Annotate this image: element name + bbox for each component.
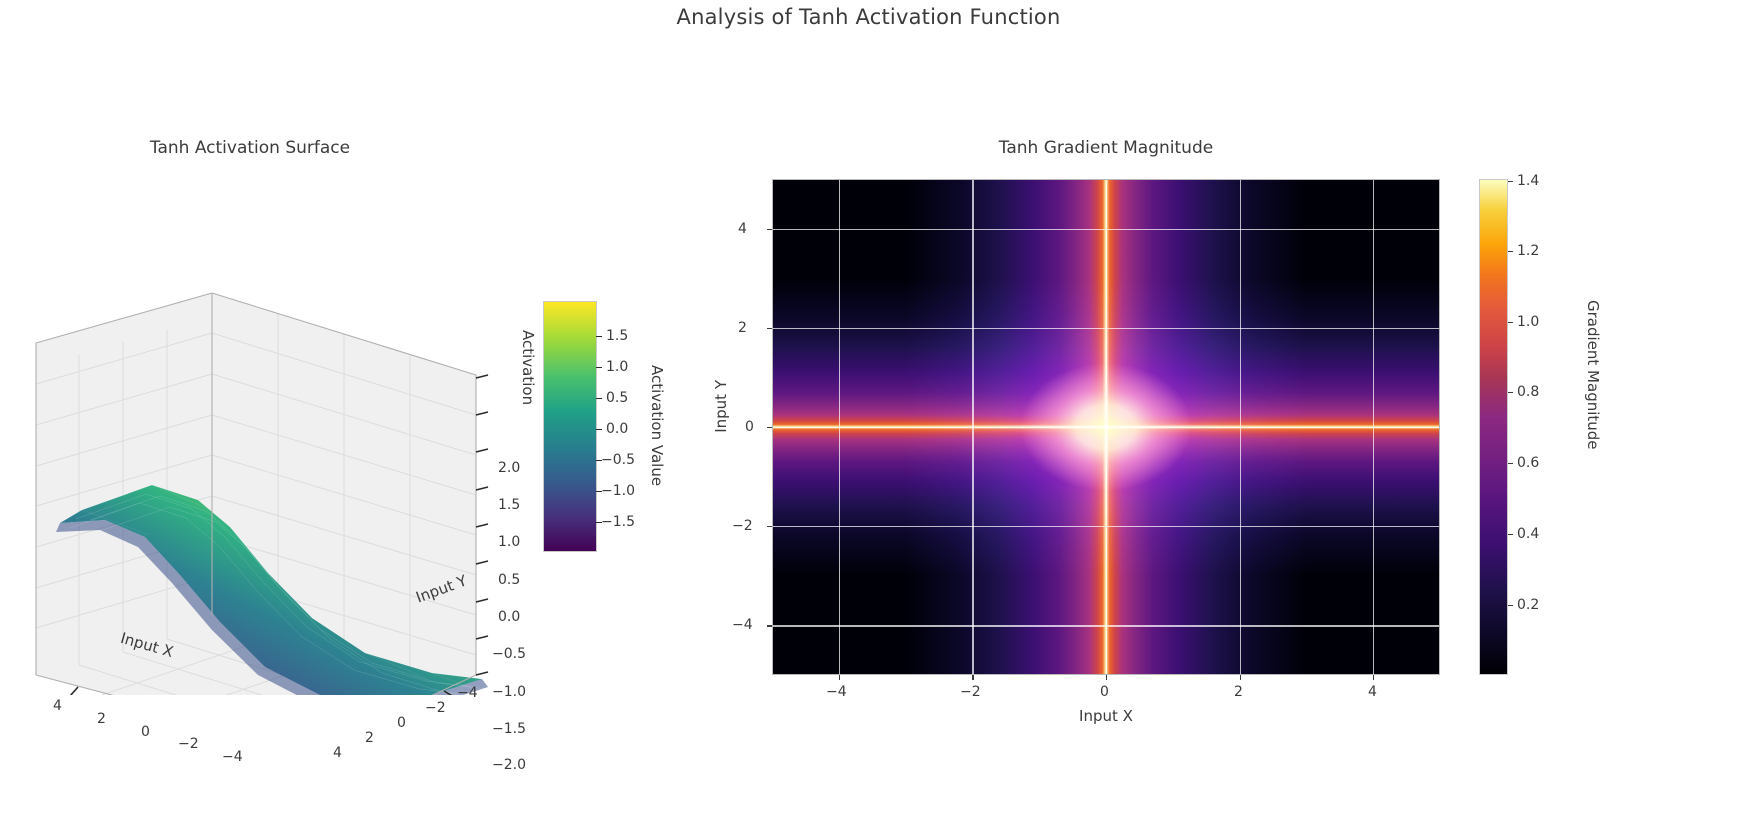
- heatmap-cbtick-4: 1.0: [1517, 314, 1539, 330]
- surface-ztick-2: 1.0: [498, 534, 520, 550]
- heatmap-ytick-0: −4: [732, 617, 753, 633]
- surface-ytick-1: −2: [425, 700, 446, 716]
- axes3d-panes: [20, 175, 540, 695]
- surface-cbtick-0: 1.5: [606, 328, 628, 344]
- surface-xtick-2: 0: [141, 724, 150, 740]
- heatmap-yaxis-label: Input Y: [712, 380, 730, 433]
- surface-xtick-4: −4: [222, 749, 243, 765]
- heatmap-cbtick-5: 1.2: [1517, 243, 1539, 259]
- heatmap-cbtick-1: 0.4: [1517, 526, 1539, 542]
- surface-ztick-0: 2.0: [498, 460, 520, 476]
- heatmap-xtick-2: 0: [1100, 684, 1109, 700]
- surface-cbtick-5: −1.0: [601, 483, 635, 499]
- heatmap-ytick-1: −2: [732, 518, 753, 534]
- surface-xtick-1: 2: [97, 711, 106, 727]
- heatmap-ytick-3: 2: [738, 320, 747, 336]
- surface-zaxis-label: Activation: [519, 330, 537, 520]
- surface-xtick-3: −2: [178, 736, 199, 752]
- surface-ytick-4: 4: [333, 745, 342, 761]
- surface-3d-axes: 2.0 1.5 1.0 0.5 0.0 −0.5 −1.0 −1.5 −2.0 …: [20, 175, 540, 695]
- heatmap-xtick-4: 4: [1368, 684, 1377, 700]
- heatmap-border: [772, 179, 1440, 675]
- matplotlib-figure: Analysis of Tanh Activation Function Tan…: [0, 0, 1737, 814]
- surface-cbtick-2: 0.5: [606, 390, 628, 406]
- surface-ztick-5: −0.5: [492, 646, 526, 662]
- surface-ytick-0: −4: [457, 685, 478, 701]
- heatmap-xtick-0: −4: [826, 684, 847, 700]
- surface-ztick-1: 1.5: [498, 497, 520, 513]
- heatmap-xaxis-label: Input X: [772, 707, 1440, 725]
- surface-ztick-8: −2.0: [492, 757, 526, 773]
- surface-ztick-7: −1.5: [492, 721, 526, 737]
- heatmap-cbtick-3: 0.8: [1517, 384, 1539, 400]
- surface-ztick-3: 0.5: [498, 572, 520, 588]
- heatmap-colorbar: [1479, 179, 1508, 675]
- surface-xtick-0: 4: [53, 698, 62, 714]
- heatmap-colorbar-label: Gradient Magnitude: [1584, 300, 1602, 450]
- surface-ztick-4: 0.0: [498, 609, 520, 625]
- surface-cbtick-6: −1.5: [601, 514, 635, 530]
- heatmap-xtick-1: −2: [960, 684, 981, 700]
- surface-cbtick-1: 1.0: [606, 359, 628, 375]
- heatmap-cbtick-6: 1.4: [1517, 173, 1539, 189]
- heatmap-ytick-4: 4: [738, 221, 747, 237]
- surface-ytick-2: 0: [397, 715, 406, 731]
- heatmap-axes: [772, 179, 1440, 675]
- surface-ztick-6: −1.0: [492, 684, 526, 700]
- surface-cbtick-4: −0.5: [601, 452, 635, 468]
- heatmap-cbtick-0: 0.2: [1517, 597, 1539, 613]
- heatmap-ytick-2: 0: [745, 419, 754, 435]
- heatmap-title: Tanh Gradient Magnitude: [772, 138, 1440, 158]
- figure-suptitle: Analysis of Tanh Activation Function: [0, 5, 1737, 29]
- heatmap-xtick-3: 2: [1234, 684, 1243, 700]
- surface-3d-svg: [20, 175, 540, 695]
- surface-ytick-3: 2: [365, 730, 374, 746]
- surface-cbtick-3: 0.0: [606, 421, 628, 437]
- surface-colorbar: [543, 301, 597, 552]
- heatmap-cbtick-2: 0.6: [1517, 455, 1539, 471]
- surface-colorbar-label: Activation Value: [648, 306, 666, 546]
- surface-plot-title: Tanh Activation Surface: [20, 138, 480, 158]
